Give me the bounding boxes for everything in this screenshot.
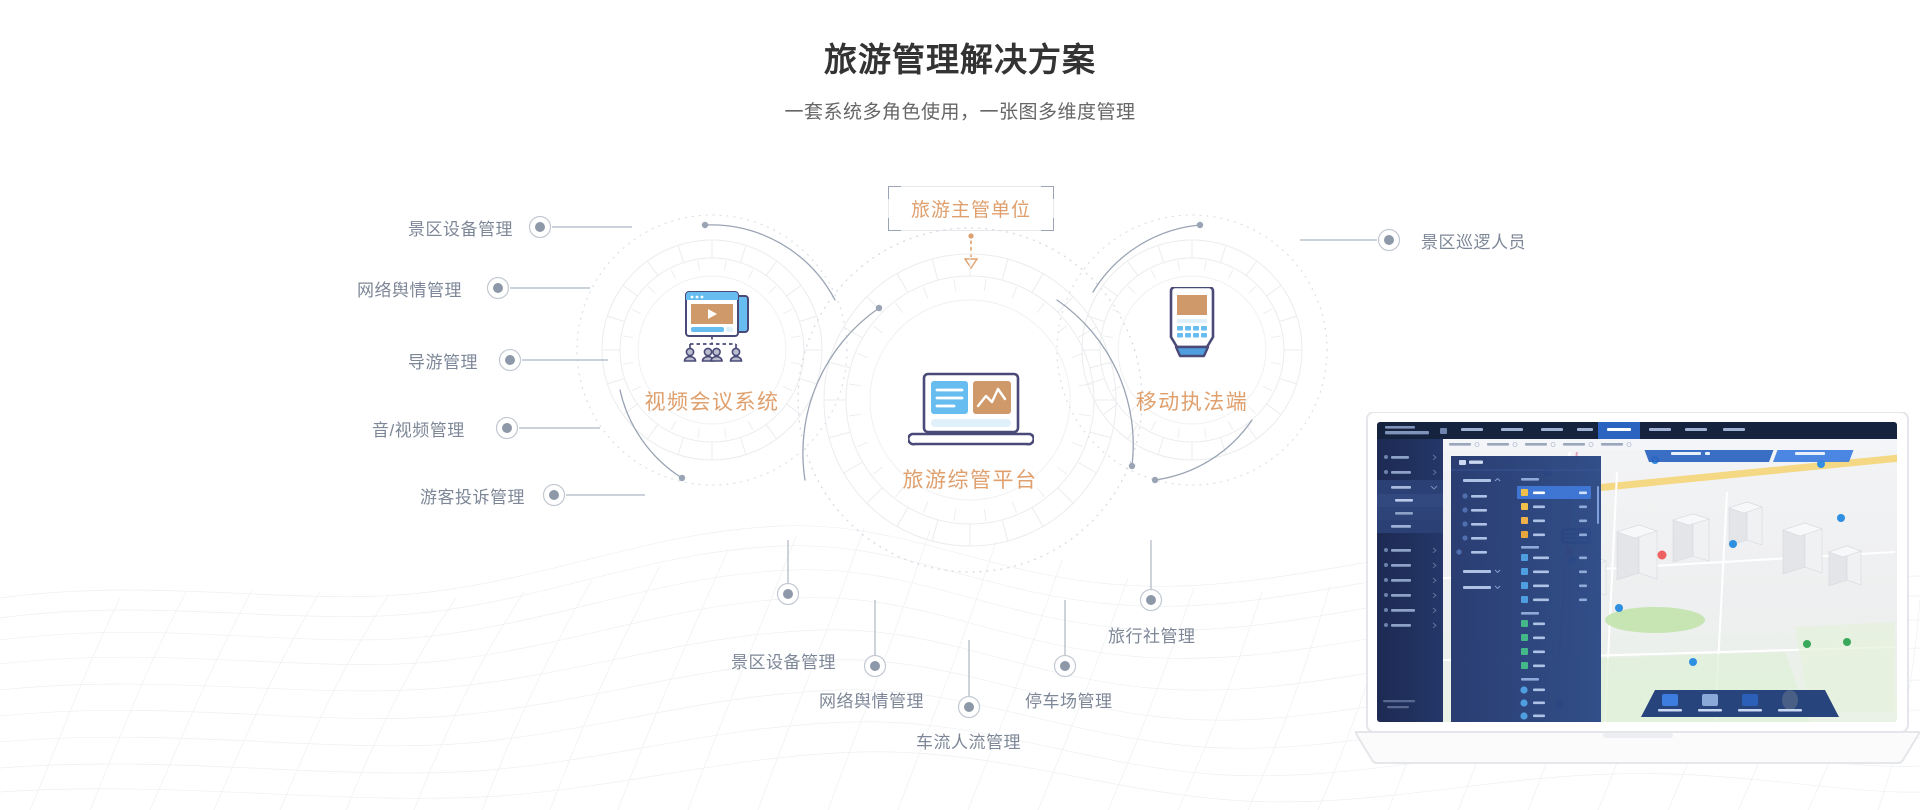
page-title: 旅游管理解决方案: [0, 40, 1920, 80]
badge-edge-left: [888, 198, 889, 219]
circle-label-video-conference: 视频会议系统: [612, 386, 812, 416]
spoke-label-bottom-1[interactable]: 网络舆情管理: [819, 687, 924, 712]
badge-corner-bottom-left: [888, 218, 901, 231]
spoke-label-bottom-2[interactable]: 车流人流管理: [916, 728, 1021, 753]
badge-corner-top-left: [888, 186, 901, 199]
page-subtitle: 一套系统多角色使用，一张图多维度管理: [0, 97, 1920, 124]
bottom-spoke-lines: [788, 540, 1151, 696]
top-authority-badge[interactable]: 旅游主管单位: [888, 186, 1054, 231]
spoke-label-left-0[interactable]: 景区设备管理: [408, 215, 513, 240]
spoke-label-left-2[interactable]: 导游管理: [408, 348, 478, 373]
handheld-terminal-icon: [1163, 287, 1221, 363]
badge-edge-top: [900, 186, 1042, 187]
arc-left-top: [705, 225, 835, 300]
laptop-dashboard-icon: [908, 372, 1034, 452]
page-header: 旅游管理解决方案 一套系统多角色使用，一张图多维度管理: [0, 40, 1920, 124]
top-authority-badge-label: 旅游主管单位: [911, 195, 1031, 222]
circle-label-tourism-platform: 旅游综管平台: [870, 464, 1070, 494]
spoke-label-right-0[interactable]: 景区巡逻人员: [1421, 228, 1526, 253]
arc-right-top: [1093, 225, 1200, 292]
arc-center-right: [1057, 300, 1133, 466]
circle-label-mobile-enforcement: 移动执法端: [1092, 386, 1292, 416]
spoke-label-left-3[interactable]: 音/视频管理: [372, 416, 465, 441]
left-spoke-lines: [510, 227, 645, 495]
badge-down-arrow-icon: [956, 233, 986, 273]
spoke-label-left-1[interactable]: 网络舆情管理: [357, 276, 462, 301]
right-spoke-dots: [1379, 230, 1400, 251]
badge-edge-bottom: [900, 230, 1042, 231]
spoke-label-bottom-0[interactable]: 景区设备管理: [731, 648, 836, 673]
left-spoke-dots: [488, 217, 565, 506]
video-window-icon: [678, 290, 758, 362]
spoke-label-left-4[interactable]: 游客投诉管理: [420, 483, 525, 508]
laptop-mockup[interactable]: [1355, 412, 1920, 772]
badge-edge-right: [1053, 198, 1054, 219]
arc-center-left: [803, 308, 879, 480]
solution-diagram-page: 旅游管理解决方案 一套系统多角色使用，一张图多维度管理 旅游主管单位: [0, 0, 1920, 810]
arc-right-bottom: [1155, 420, 1252, 480]
badge-corner-top-right: [1041, 186, 1054, 199]
spoke-label-bottom-3[interactable]: 停车场管理: [1025, 687, 1113, 712]
badge-corner-bottom-right: [1041, 218, 1054, 231]
spoke-label-bottom-4[interactable]: 旅行社管理: [1108, 622, 1196, 647]
